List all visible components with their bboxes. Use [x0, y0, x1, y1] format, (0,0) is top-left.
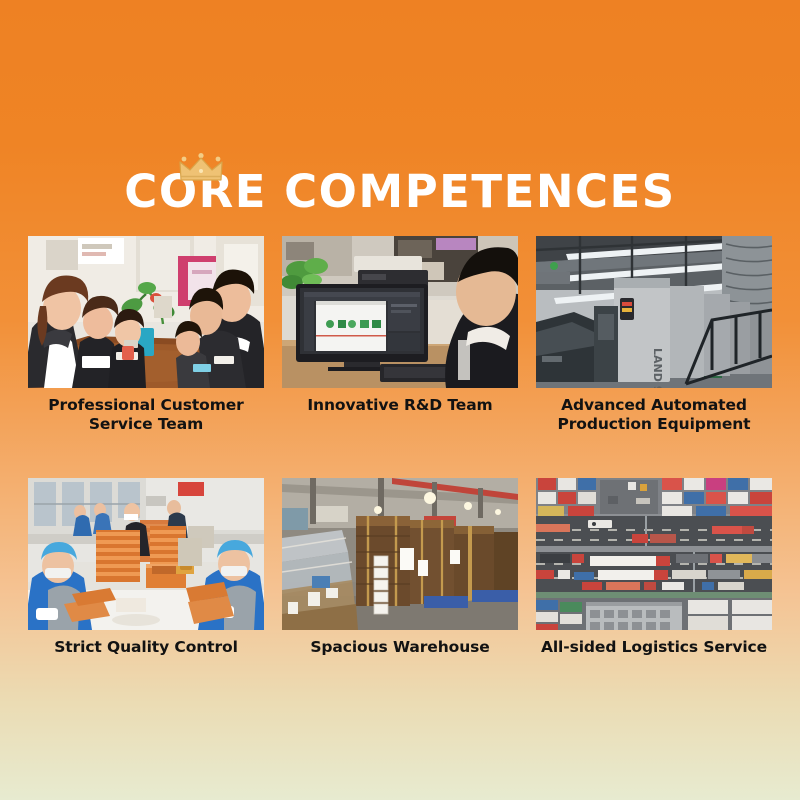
photo-spacious-warehouse: [282, 478, 518, 630]
core-competences-banner: CORE COMPETENCES: [0, 0, 800, 800]
printing-press-image: LAND 900: [536, 236, 772, 388]
caption-line: Service Team: [28, 415, 264, 434]
warehouse-image: [282, 478, 518, 630]
caption-all-sided-logistics-service: All-sided Logistics Service: [536, 638, 772, 657]
competence-row-top: Professional Customer Service Team: [28, 236, 772, 434]
logistics-aerial-image: [536, 478, 772, 630]
caption-line: Advanced Automated: [536, 396, 772, 415]
caption-line: Spacious Warehouse: [282, 638, 518, 657]
competence-card-all-sided-logistics-service[interactable]: All-sided Logistics Service: [536, 478, 772, 657]
competence-card-professional-customer-service-team[interactable]: Professional Customer Service Team: [28, 236, 264, 434]
competence-card-strict-quality-control[interactable]: Strict Quality Control: [28, 478, 264, 657]
caption-line: All-sided Logistics Service: [536, 638, 772, 657]
caption-line: Production Equipment: [536, 415, 772, 434]
competence-row-bottom: Strict Quality Control: [28, 478, 772, 657]
competence-card-spacious-warehouse[interactable]: Spacious Warehouse: [282, 478, 518, 657]
quality-control-image: [28, 478, 264, 630]
competence-card-innovative-rd-team[interactable]: Innovative R&D Team: [282, 236, 518, 434]
photo-all-sided-logistics-service: [536, 478, 772, 630]
photo-professional-customer-service-team: [28, 236, 264, 388]
caption-line: Innovative R&D Team: [282, 396, 518, 415]
designer-workstation-image: [282, 236, 518, 388]
crown-icon: [178, 153, 224, 183]
caption-advanced-automated-production-equipment: Advanced Automated Production Equipment: [536, 396, 772, 434]
caption-line: Strict Quality Control: [28, 638, 264, 657]
caption-professional-customer-service-team: Professional Customer Service Team: [28, 396, 264, 434]
svg-text:LAND 900: LAND 900: [651, 348, 664, 388]
meeting-room-image: [28, 236, 264, 388]
photo-innovative-rd-team: [282, 236, 518, 388]
photo-advanced-automated-production-equipment: LAND 900: [536, 236, 772, 388]
competence-card-advanced-automated-production-equipment[interactable]: LAND 900: [536, 236, 772, 434]
photo-strict-quality-control: [28, 478, 264, 630]
competence-grid: Professional Customer Service Team: [28, 236, 772, 657]
banner-heading: CORE COMPETENCES: [0, 150, 800, 220]
caption-innovative-rd-team: Innovative R&D Team: [282, 396, 518, 415]
caption-strict-quality-control: Strict Quality Control: [28, 638, 264, 657]
caption-line: Professional Customer: [28, 396, 264, 415]
caption-spacious-warehouse: Spacious Warehouse: [282, 638, 518, 657]
